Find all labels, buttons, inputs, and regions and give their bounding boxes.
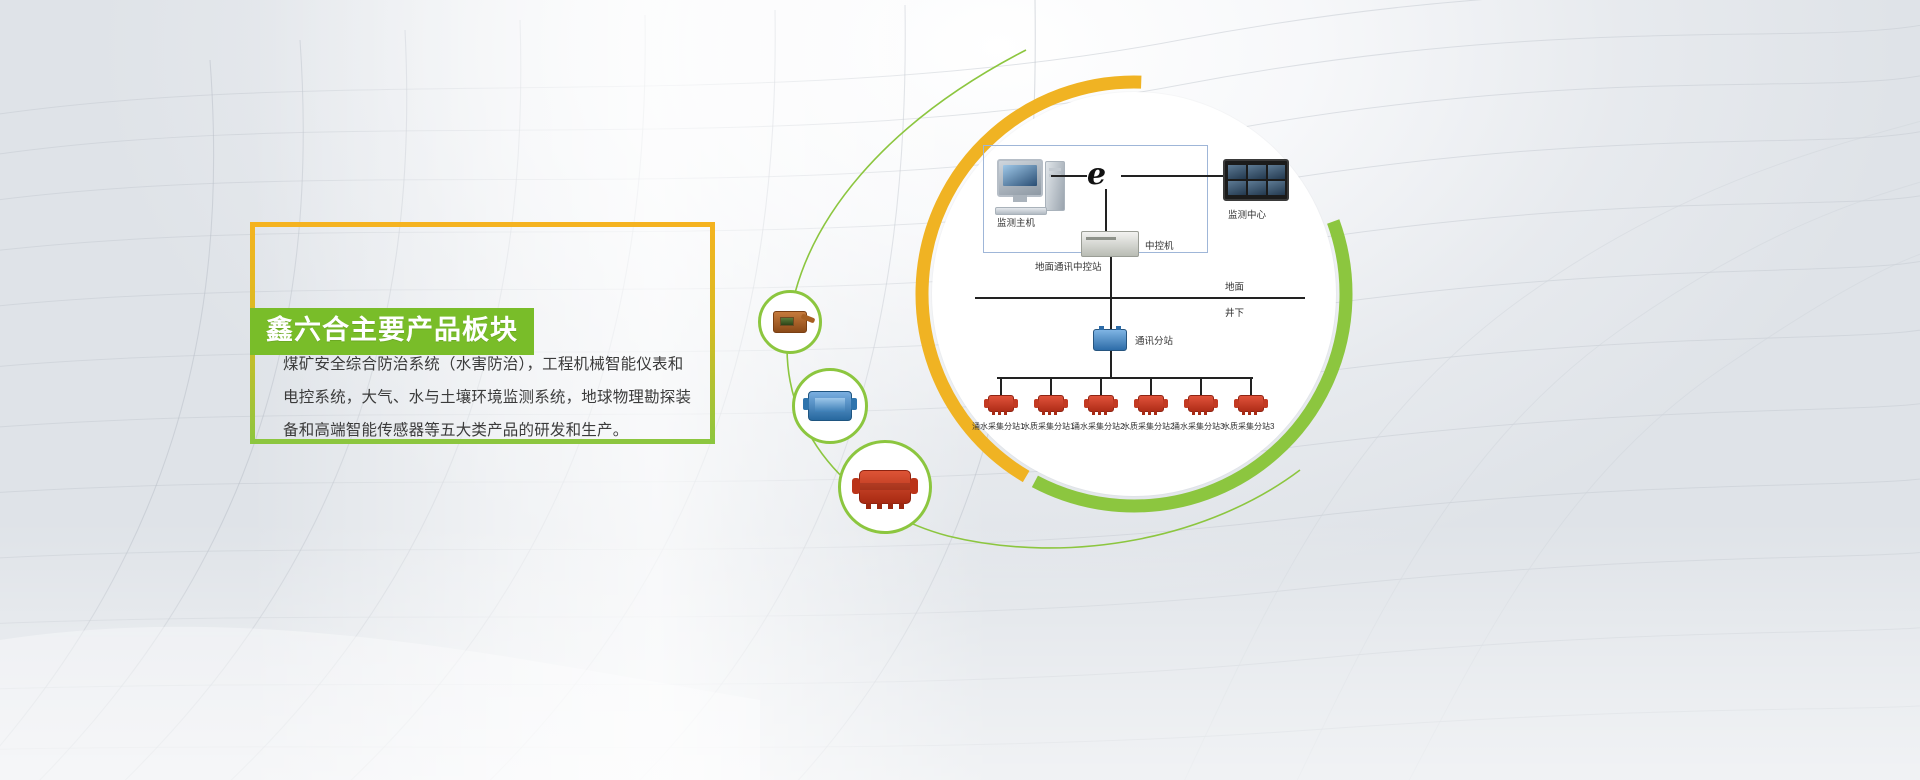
product-bubble-1[interactable] <box>758 290 822 354</box>
label-control-host: 中控机 <box>1145 238 1174 252</box>
label-substation-3: 涌水采集分站2 <box>1072 421 1124 432</box>
system-diagram: 监测主机 e 监测中心 中控机 地面通讯中控站 <box>740 40 1380 560</box>
server-icon <box>1081 231 1139 257</box>
frame-border-right <box>710 222 715 444</box>
pc-tower-icon <box>1045 161 1065 211</box>
label-substation-2: 水质采集分站1 <box>1022 421 1074 432</box>
schematic: 监测主机 e 监测中心 中控机 地面通讯中控站 <box>975 145 1305 455</box>
label-substation-5: 涌水采集分站3 <box>1172 421 1224 432</box>
ground-divider <box>975 297 1305 299</box>
product-bubble-3[interactable] <box>838 440 932 534</box>
label-substation-4: 水质采集分站2 <box>1122 421 1174 432</box>
blue-substation-icon <box>1093 329 1127 351</box>
red-collector-icon-5 <box>1188 395 1214 412</box>
description-paragraph: 煤矿安全综合防治系统（水害防治），工程机械智能仪表和 电控系统，大气、水与土壤环… <box>283 348 693 447</box>
brown-instrument-icon <box>773 311 807 333</box>
label-substation-1: 涌水采集分站1 <box>972 421 1024 432</box>
red-enclosure-icon <box>859 470 911 504</box>
paragraph-line-3: 备和高端智能传感器等五大类产品的研发和生产。 <box>283 414 693 447</box>
label-monitor-host: 监测主机 <box>997 215 1035 229</box>
keyboard-icon <box>995 207 1047 215</box>
red-collector-icon-4 <box>1138 395 1164 412</box>
blue-enclosure-icon <box>808 391 852 421</box>
desktop-computer-icon <box>997 159 1043 197</box>
label-monitor-center: 监测中心 <box>1228 207 1266 221</box>
label-zone-underground: 井下 <box>1225 305 1244 319</box>
label-substation-6: 水质采集分站3 <box>1222 421 1274 432</box>
label-surface-group: 地面通讯中控站 <box>1035 259 1102 273</box>
red-collector-icon-2 <box>1038 395 1064 412</box>
product-bubble-2[interactable] <box>792 368 868 444</box>
paragraph-line-1: 煤矿安全综合防治系统（水害防治），工程机械智能仪表和 <box>283 348 693 381</box>
red-collector-icon-1 <box>988 395 1014 412</box>
video-wall-icon <box>1223 159 1289 201</box>
network-cloud-icon: e <box>1087 161 1123 191</box>
paragraph-line-2: 电控系统，大气、水与土壤环境监测系统，地球物理勘探装 <box>283 381 693 414</box>
frame-border-top <box>250 222 715 227</box>
red-collector-icon-6 <box>1238 395 1264 412</box>
label-zone-surface: 地面 <box>1225 279 1244 293</box>
red-collector-icon-3 <box>1088 395 1114 412</box>
product-banner: 鑫六合主要产品板块 煤矿安全综合防治系统（水害防治），工程机械智能仪表和 电控系… <box>0 0 1920 780</box>
label-comm-substation: 通讯分站 <box>1135 333 1173 347</box>
